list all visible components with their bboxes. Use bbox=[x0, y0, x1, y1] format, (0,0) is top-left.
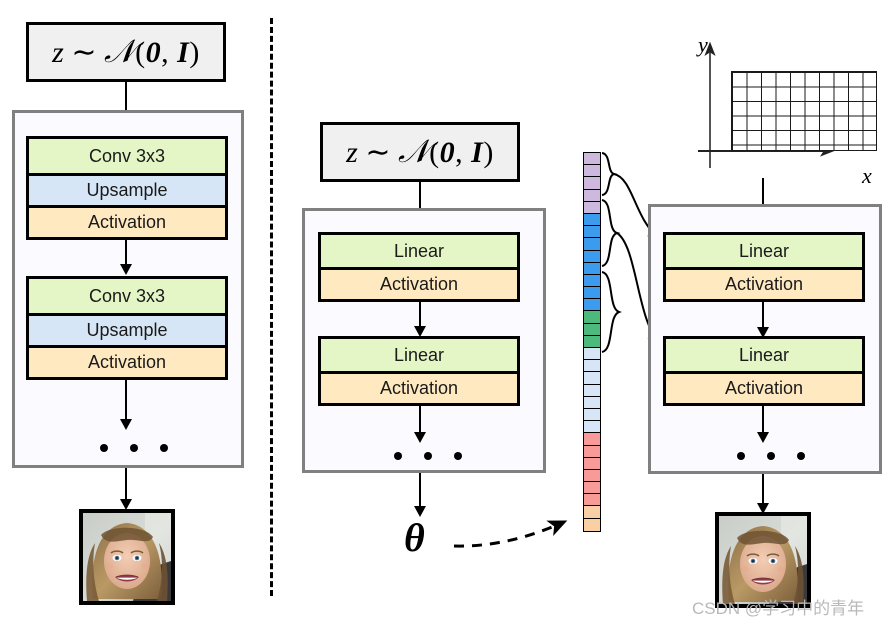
layer-linear: Linear bbox=[666, 235, 862, 267]
layer-activation: Activation bbox=[666, 371, 862, 403]
right-panel: y x Linear Activation Linear Activation bbox=[0, 0, 896, 621]
y-axis-label: y bbox=[698, 32, 708, 58]
x-axis-label: x bbox=[862, 163, 872, 189]
csdn-watermark: CSDN @学习中的青年 bbox=[692, 594, 864, 619]
ellipsis-dot bbox=[797, 452, 805, 460]
inr-block-1: Linear Activation bbox=[663, 232, 865, 302]
inr-block-2: Linear Activation bbox=[663, 336, 865, 406]
face-illustration bbox=[719, 516, 807, 604]
coordinate-grid bbox=[731, 71, 877, 151]
ellipsis-dot bbox=[737, 452, 745, 460]
ellipsis-dot bbox=[767, 452, 775, 460]
arrow-stack-to-output-right bbox=[762, 474, 764, 506]
layer-linear: Linear bbox=[666, 339, 862, 371]
figure-canvas: z∼𝒩(0, I) Conv 3x3 Upsample Activation C… bbox=[0, 0, 896, 621]
layer-activation: Activation bbox=[666, 267, 862, 299]
inr-stack-ellipsis bbox=[737, 452, 805, 460]
avatar bbox=[719, 516, 807, 604]
arrow-inr-block1-to-block2 bbox=[762, 302, 764, 330]
arrow-inr-block2-to-ellipsis-head bbox=[757, 432, 769, 443]
